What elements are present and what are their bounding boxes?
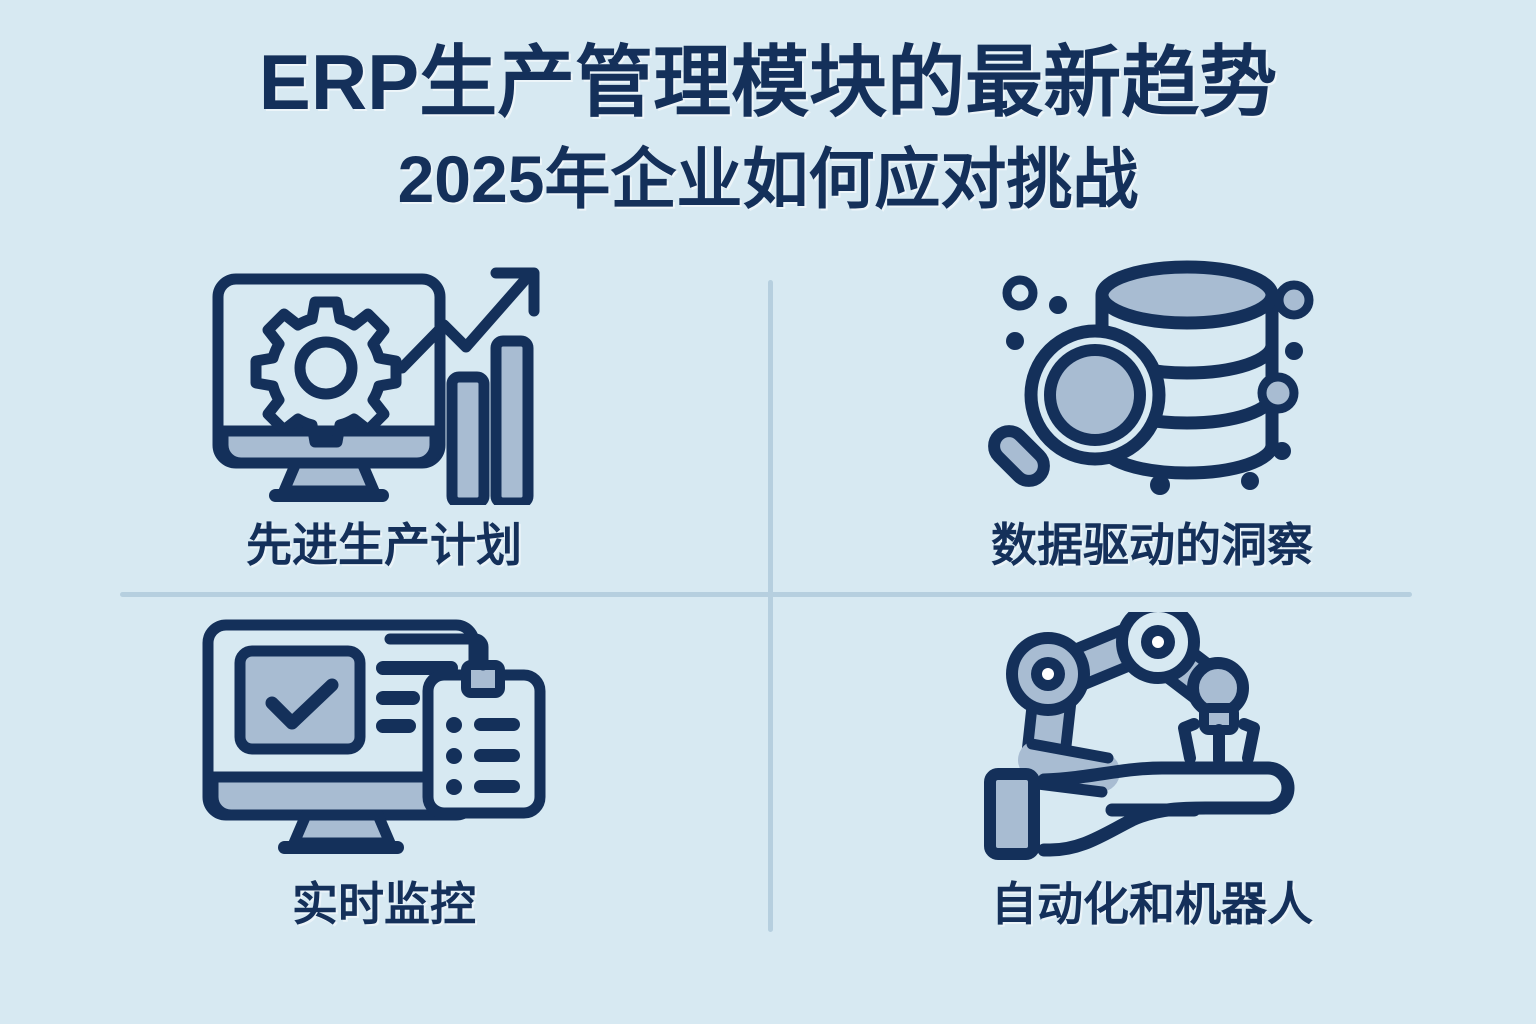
database-magnifier-icon <box>982 255 1322 505</box>
icon-container <box>982 255 1322 505</box>
page-subtitle: 2025年企业如何应对挑战 <box>0 136 1536 222</box>
quadrant-data-driven-insights: 数据驱动的洞察 <box>768 255 1536 573</box>
quadrant-advanced-production-planning: 先进生产计划 <box>0 255 768 573</box>
title-block: ERP生产管理模块的最新趋势 2025年企业如何应对挑战 <box>0 34 1536 222</box>
quadrant-label-realtime-monitoring: 实时监控 <box>292 876 476 932</box>
robot-arm-hand-icon <box>982 612 1322 862</box>
monitor-checkmark-clipboard-icon <box>194 617 574 857</box>
quadrant-label-automation-and-robotics: 自动化和机器人 <box>991 876 1313 932</box>
infographic-poster: ERP生产管理模块的最新趋势 2025年企业如何应对挑战 <box>0 0 1536 1024</box>
icon-container <box>194 612 574 862</box>
icon-container <box>204 255 564 505</box>
quadrant-realtime-monitoring: 实时监控 <box>0 612 768 932</box>
quadrant-label-data-driven-insights: 数据驱动的洞察 <box>991 517 1313 573</box>
quadrant-label-advanced-production-planning: 先进生产计划 <box>246 517 522 573</box>
page-title: ERP生产管理模块的最新趋势 <box>0 34 1536 130</box>
icon-container <box>982 612 1322 862</box>
quadrant-automation-and-robotics: 自动化和机器人 <box>768 612 1536 932</box>
monitor-gear-growth-chart-icon <box>204 255 564 505</box>
horizontal-divider <box>120 592 1412 597</box>
